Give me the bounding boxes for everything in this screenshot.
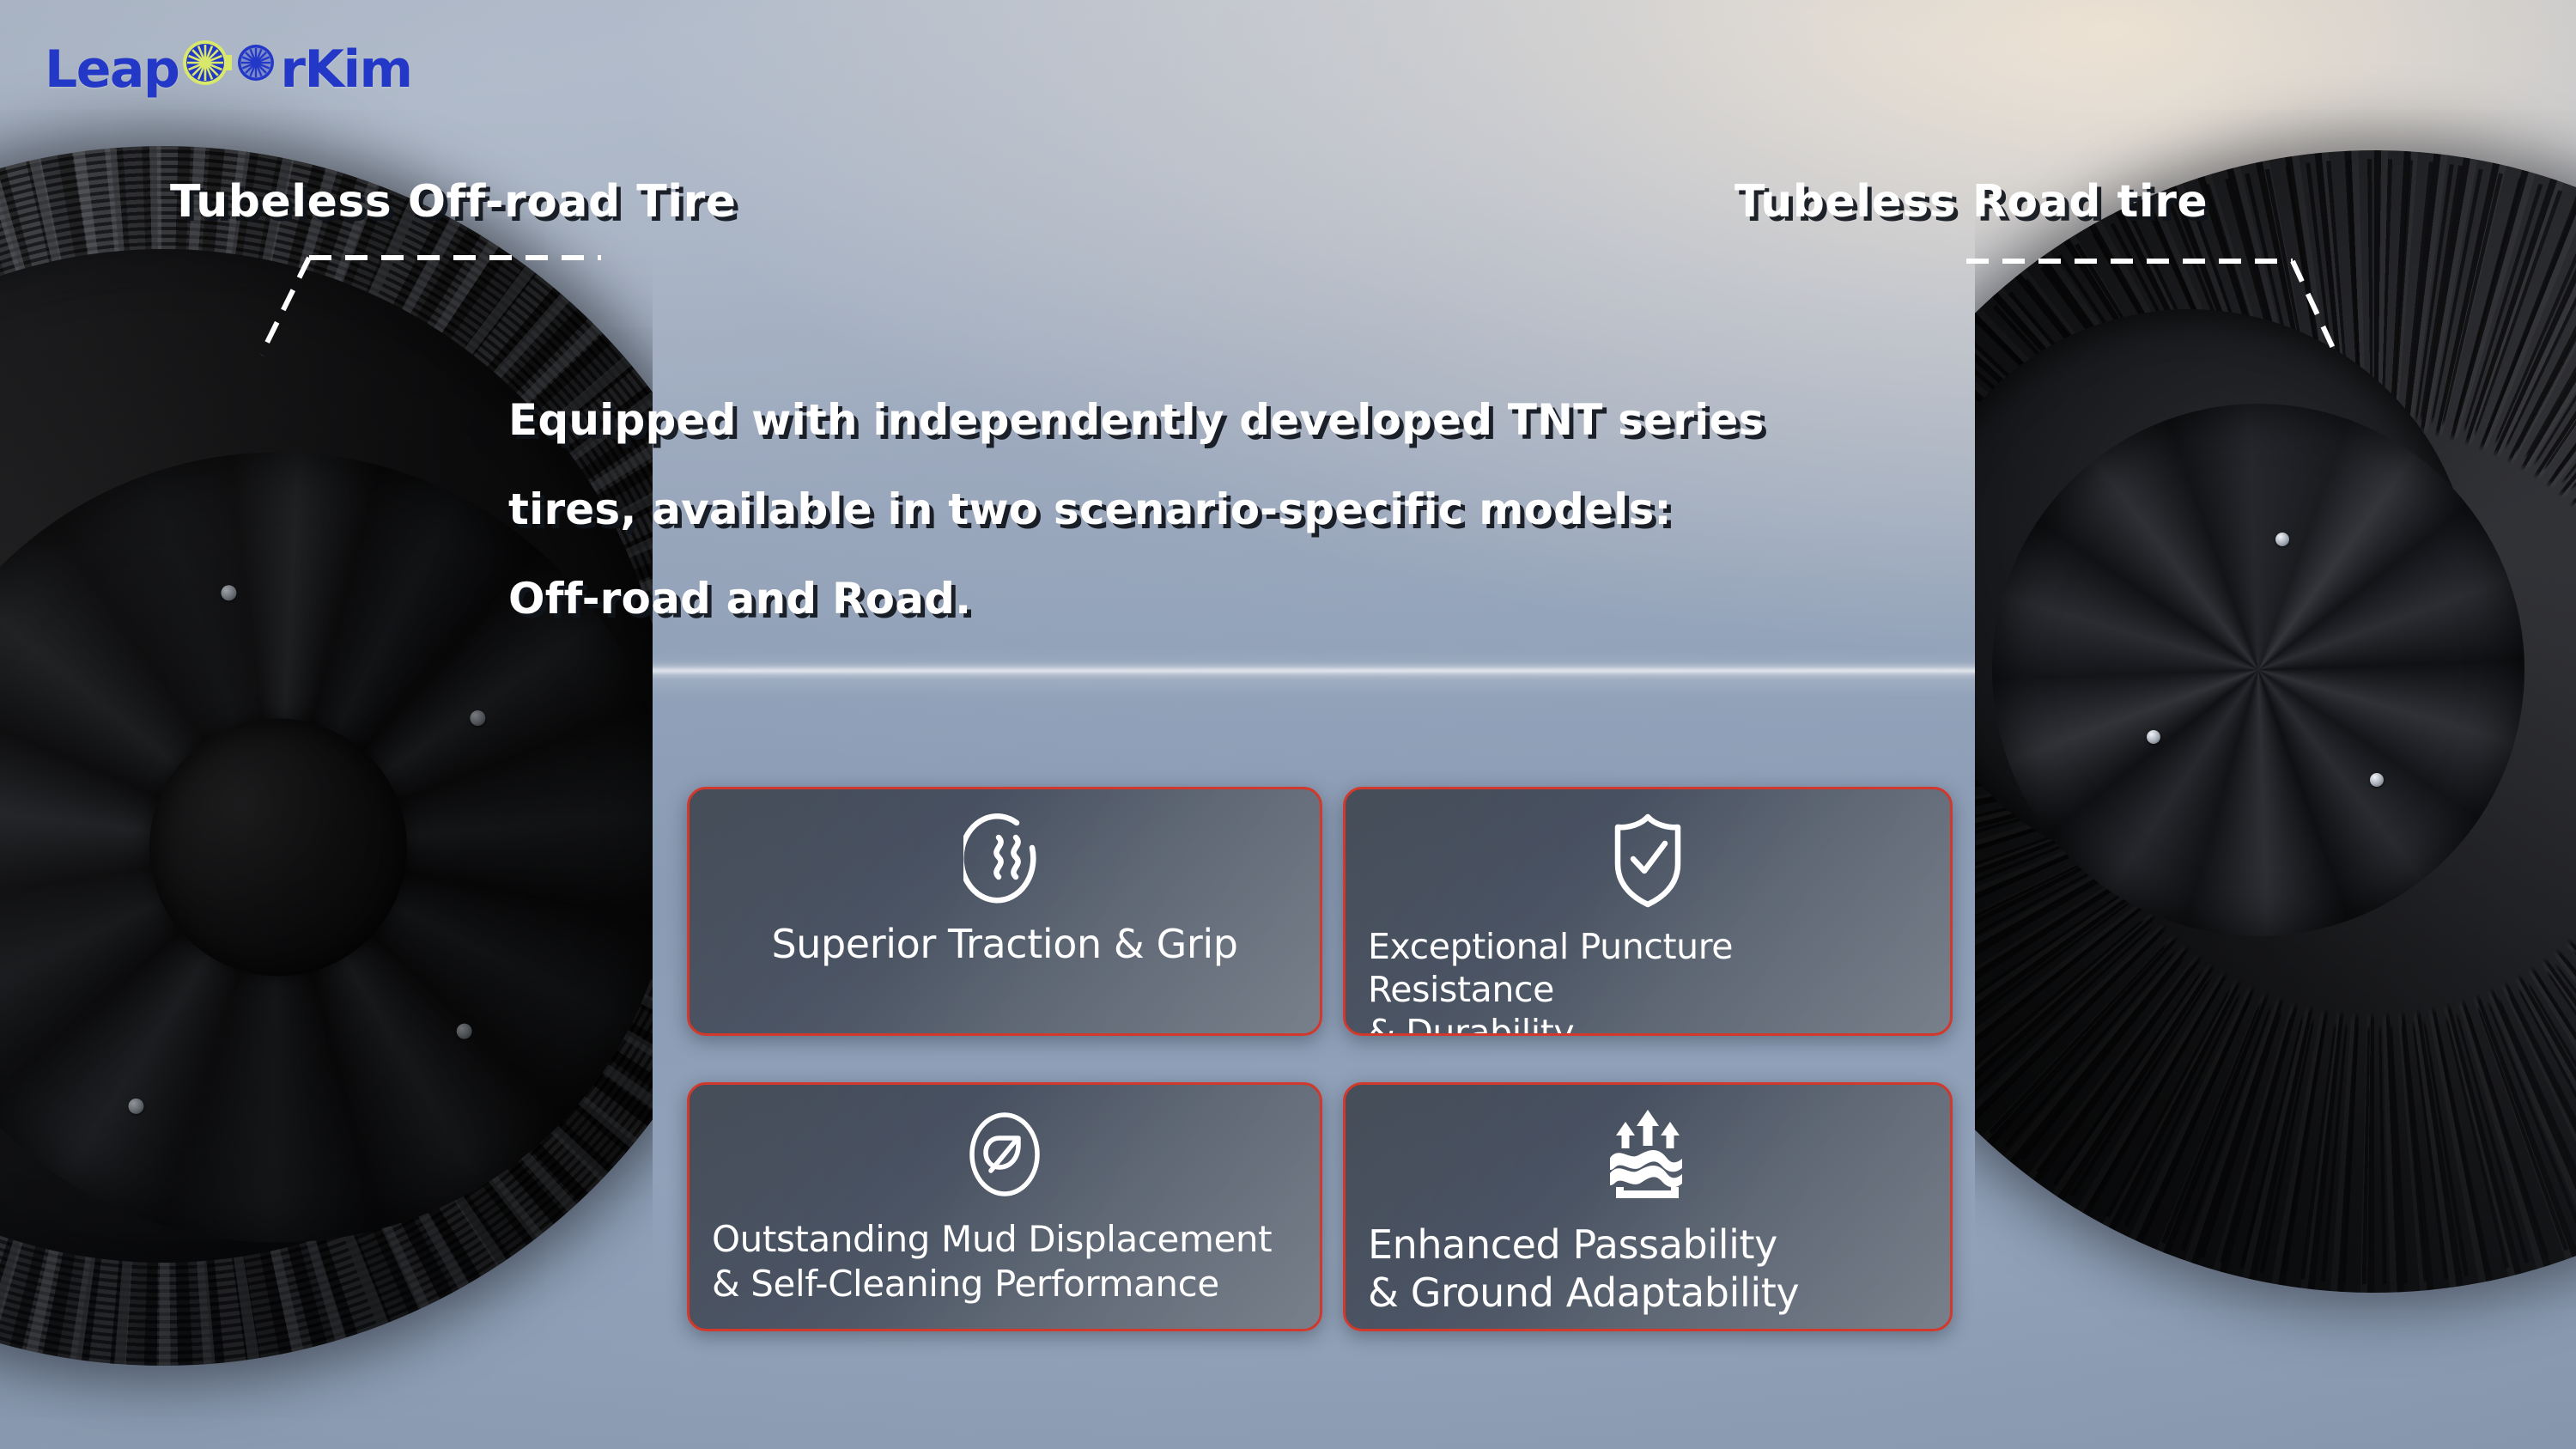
wheel-icon-green (179, 36, 232, 102)
leader-line-right (1949, 249, 2353, 378)
leaf-circle-icon (712, 1104, 1297, 1205)
feature-card-title: Enhanced Passability& Ground Adaptabilit… (1368, 1221, 1928, 1317)
feature-card-title: Exceptional Puncture Resistance& Durabil… (1368, 925, 1928, 1036)
traction-grip-icon (712, 808, 1297, 910)
label-off-road-tire: Tubeless Off-road Tire (170, 176, 736, 228)
breathability-arrows-icon (1368, 1104, 1928, 1209)
headline-paragraph: Equipped with independently developed TN… (508, 375, 2217, 643)
feature-card-mud-displacement[interactable]: Outstanding Mud Displacement& Self-Clean… (687, 1082, 1322, 1331)
feature-card-puncture-resistance[interactable]: Exceptional Puncture Resistance& Durabil… (1343, 787, 1953, 1036)
logo-text-kim: Kim (304, 40, 411, 100)
feature-card-title: Superior Traction & Grip (712, 922, 1297, 966)
headline-line-2: tires, available in two scenario-specifi… (508, 465, 2217, 554)
brand-logo[interactable]: LeaprKim (45, 36, 412, 102)
feature-card-grid: Superior Traction & Grip Exceptional Pun… (687, 787, 1949, 1336)
headline-line-1: Equipped with independently developed TN… (508, 375, 2217, 465)
leader-line-left (240, 245, 635, 365)
logo-text-r: r (280, 40, 304, 100)
headline-line-3: Off-road and Road. (508, 554, 2217, 643)
slide-canvas: LeaprKim Tubeless Off-road Tire Tubeless… (0, 0, 2576, 1449)
logo-text-leap: Leap (45, 40, 179, 100)
feature-card-passability[interactable]: Enhanced Passability& Ground Adaptabilit… (1343, 1082, 1953, 1331)
shield-check-icon (1368, 808, 1928, 913)
label-road-tire: Tubeless Road tire (1735, 176, 2208, 228)
feature-card-superior-traction-grip[interactable]: Superior Traction & Grip (687, 787, 1322, 1036)
feature-card-title: Outstanding Mud Displacement& Self-Clean… (712, 1217, 1297, 1306)
wheel-icon-blue (232, 39, 280, 100)
